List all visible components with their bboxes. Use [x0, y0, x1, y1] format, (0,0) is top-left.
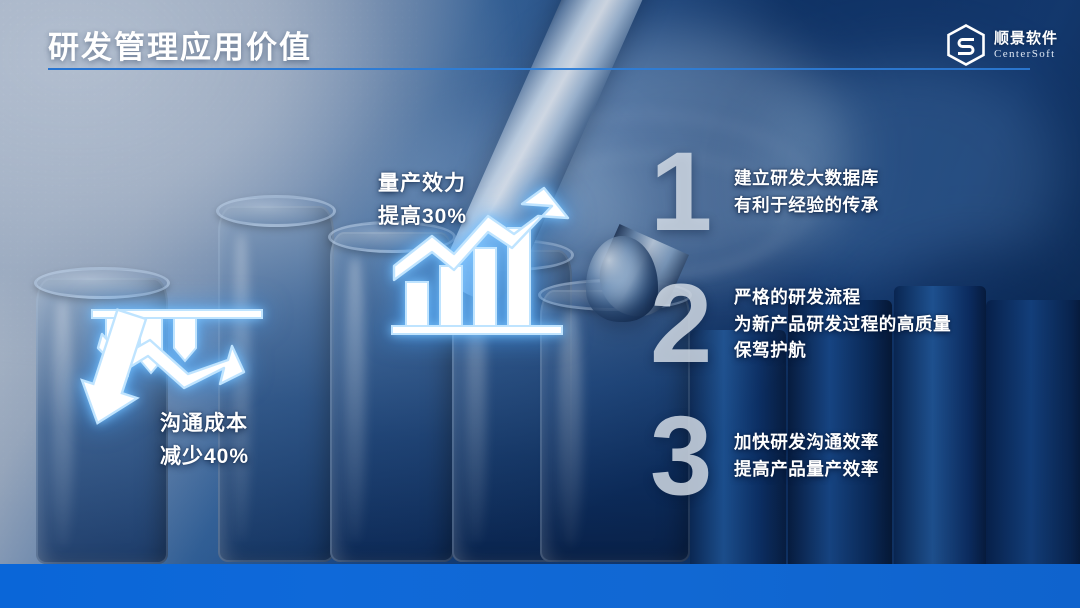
list-item-text: 建立研发大数据库 有利于经验的传承	[734, 165, 879, 218]
callout-line-1: 量产效力	[378, 168, 467, 201]
callout-communication-cost: 沟通成本 减少40%	[160, 408, 249, 473]
list-item-line: 提高产品量产效率	[734, 456, 879, 483]
list-item-line: 严格的研发流程	[734, 284, 951, 311]
list-item: 1 建立研发大数据库 有利于经验的传承	[650, 146, 879, 238]
list-item-number: 3	[650, 410, 724, 502]
callout-production-efficiency: 量产效力 提高30%	[378, 168, 467, 233]
list-item-line: 加快研发沟通效率	[734, 429, 879, 456]
footer-bar	[0, 564, 1080, 608]
list-item-text: 加快研发沟通效率 提高产品量产效率	[734, 429, 879, 482]
callout-line-2: 减少40%	[160, 441, 249, 474]
logo-company-name-cn: 顺景软件	[994, 31, 1058, 46]
list-item-line: 为新产品研发过程的高质量	[734, 311, 951, 338]
brand-logo: 顺景软件 CenterSoft	[947, 24, 1058, 66]
list-item: 3 加快研发沟通效率 提高产品量产效率	[650, 410, 879, 502]
logo-company-name-en: CenterSoft	[994, 49, 1058, 60]
presentation-slide: 研发管理应用价值 顺景软件 CenterSoft	[0, 0, 1080, 608]
list-item-number: 1	[650, 146, 724, 238]
list-item-number: 2	[650, 278, 724, 370]
hexagon-s-icon	[947, 24, 985, 66]
callout-line-1: 沟通成本	[160, 408, 249, 441]
callout-line-2: 提高30%	[378, 201, 467, 234]
list-item-text: 严格的研发流程 为新产品研发过程的高质量 保驾护航	[734, 284, 951, 364]
list-item: 2 严格的研发流程 为新产品研发过程的高质量 保驾护航	[650, 278, 951, 370]
page-title: 研发管理应用价值	[48, 22, 312, 67]
list-item-line: 保驾护航	[734, 337, 951, 364]
title-underline	[48, 68, 1030, 70]
list-item-line: 建立研发大数据库	[734, 165, 879, 192]
list-item-line: 有利于经验的传承	[734, 192, 879, 219]
